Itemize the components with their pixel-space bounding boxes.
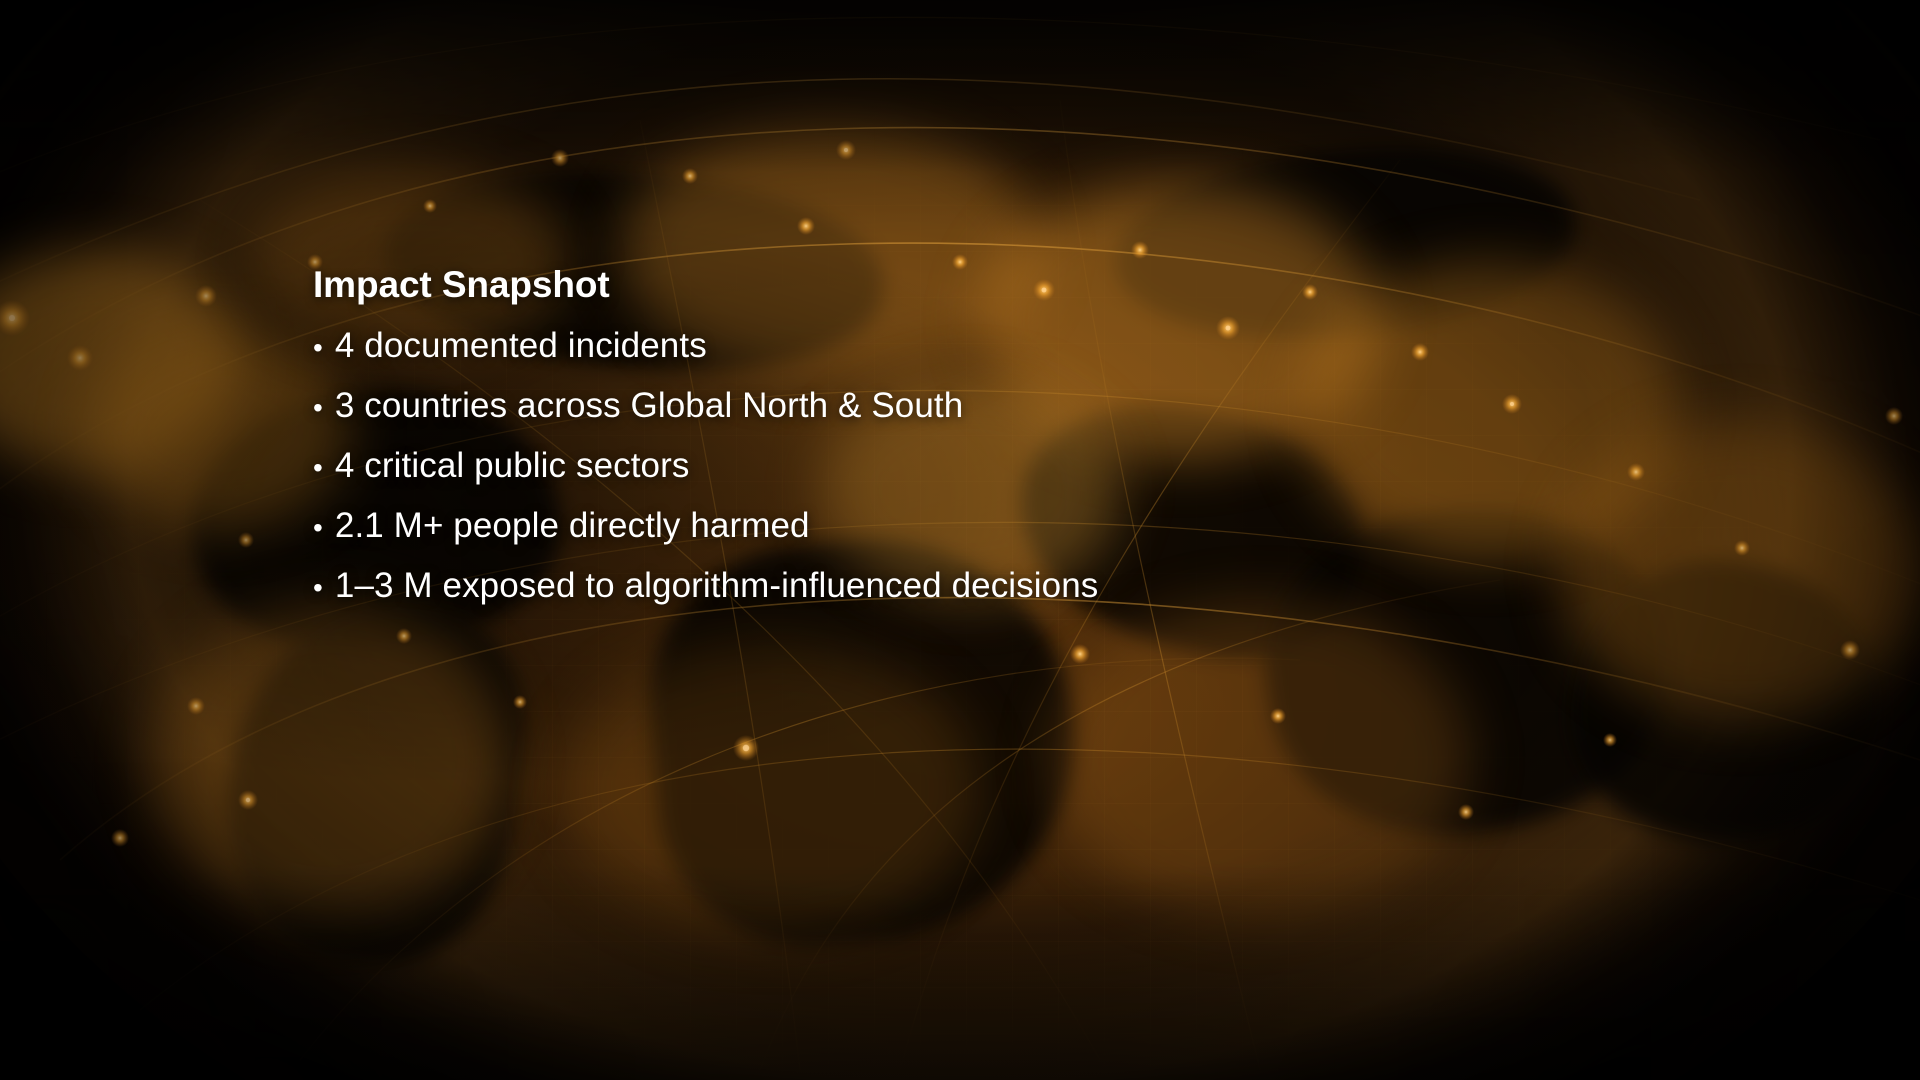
list-item: • 4 documented incidents (313, 328, 1613, 363)
bullet-point-icon: • (313, 514, 323, 542)
impact-bullet-list: • 4 documented incidents • 3 countries a… (313, 328, 1613, 603)
presentation-slide: Impact Snapshot • 4 documented incidents… (0, 0, 1920, 1080)
list-item: • 3 countries across Global North & Sout… (313, 388, 1613, 423)
list-item: • 2.1 M+ people directly harmed (313, 508, 1613, 543)
list-item: • 1–3 M exposed to algorithm-influenced … (313, 568, 1613, 603)
list-item-label: 4 critical public sectors (335, 448, 690, 483)
slide-content: Impact Snapshot • 4 documented incidents… (313, 265, 1613, 628)
list-item: • 4 critical public sectors (313, 448, 1613, 483)
list-item-label: 2.1 M+ people directly harmed (335, 508, 810, 543)
list-item-label: 3 countries across Global North & South (335, 388, 963, 423)
list-item-label: 4 documented incidents (335, 328, 707, 363)
bullet-point-icon: • (313, 394, 323, 422)
page-title: Impact Snapshot (313, 265, 1613, 306)
bullet-point-icon: • (313, 454, 323, 482)
list-item-label: 1–3 M exposed to algorithm-influenced de… (335, 568, 1098, 603)
bullet-point-icon: • (313, 574, 323, 602)
bullet-point-icon: • (313, 334, 323, 362)
